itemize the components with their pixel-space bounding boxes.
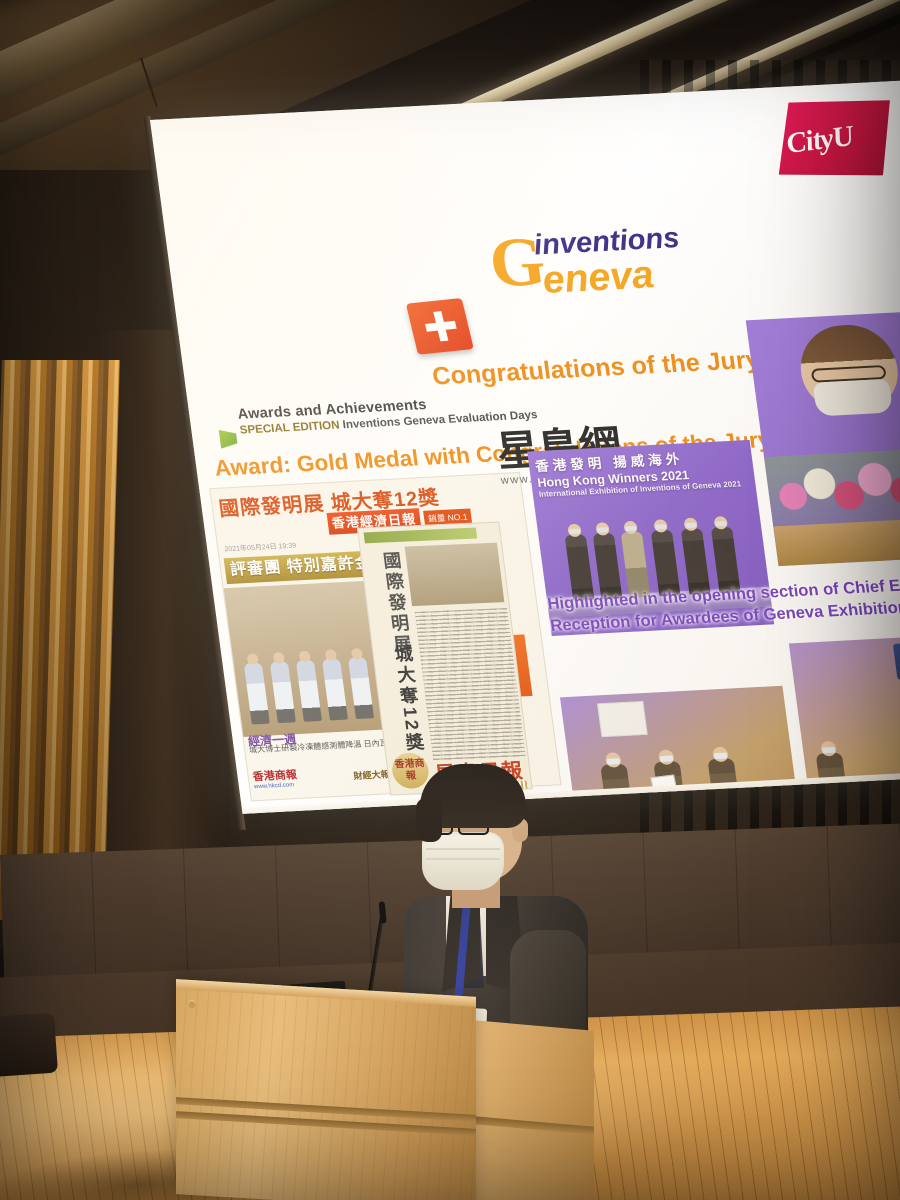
booth-display-screen [893,641,900,680]
lab-person [296,659,322,721]
clip2-section-bar [364,528,478,544]
person-head [712,747,729,763]
booth-visit-scene [789,633,900,814]
gold-curtain-left [0,360,120,920]
lab-person [322,658,348,720]
hair [420,764,526,828]
person-head [820,741,837,757]
panel-chief-executive [746,310,900,566]
panel-booth-visit [789,633,900,814]
lab-person [244,662,270,724]
screenshot-root: CityU G inventions eneva Congratulations… [0,0,900,1200]
lab-person [270,661,296,723]
clip2-headline: 國際發明展 [369,551,412,656]
slide-content: CityU G inventions eneva Congratulations… [150,80,900,814]
person-head [653,519,668,533]
person-head [351,648,363,659]
lab-person [348,657,374,719]
hk-winners-title-block: 香港發明 揚威海外 Hong Kong Winners 2021 Interna… [534,444,754,499]
clip2-subheadline: 城大奪12獎 [381,644,425,754]
hkcd-logo-text: 香港商報 [252,769,298,783]
screen-surface: CityU G inventions eneva Congratulations… [150,80,900,814]
booth-poster [597,701,648,737]
special-edition-label: SPECIAL EDITION [239,420,340,437]
clip-timestamp: 2021年05月24日 19:39 [224,541,297,555]
geneva-eneva-text: eneva [540,253,657,302]
exhibit-table [822,799,900,813]
cityu-logo: CityU [769,97,900,181]
hkcd-logo: 香港商報www.hkcd.com [252,766,299,790]
person-head [713,516,728,530]
ce-face-mask [813,379,894,417]
person-head [605,752,622,768]
person-head [623,521,638,535]
inventions-geneva-logo: G inventions eneva [484,210,737,314]
flower-arrangement [764,447,900,531]
person-head [567,524,582,538]
medal-display [726,787,795,814]
clip2-body-text [415,608,526,761]
person-head [595,522,610,536]
person-head [273,652,285,663]
stage-chair [0,1013,58,1078]
person-head [299,651,311,662]
hkcd-url: www.hkcd.com [254,782,299,790]
person-head [658,749,675,765]
clip-photo-caption: 經濟一週 [247,730,297,749]
person-head [683,518,698,532]
podium-knob [188,1000,196,1008]
clip2-photo [405,543,505,607]
podium-lectern [176,979,476,1200]
swiss-flag-icon [406,298,474,355]
person-head [246,653,258,664]
person-head [325,649,337,660]
